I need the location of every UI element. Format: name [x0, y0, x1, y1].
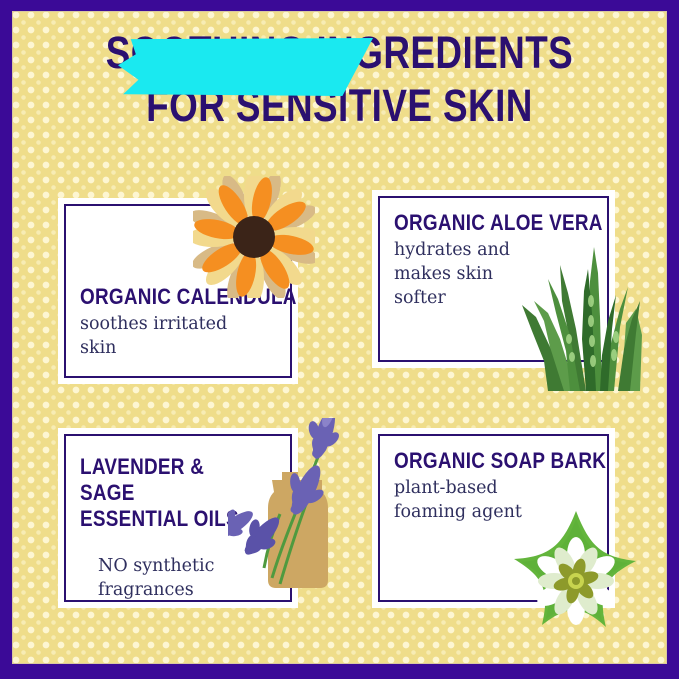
card-aloe-body: hydrates and makes skin softer	[394, 238, 599, 310]
card-soapbark-text: ORGANIC SOAP BARK plant-based foaming ag…	[394, 448, 599, 524]
card-lavender-text: LAVENDER & SAGE ESSENTIAL OILS NO synthe…	[80, 454, 282, 602]
card-calendula-body: soothes irritated skin	[80, 312, 282, 360]
card-calendula: ORGANIC CALENDULA soothes irritated skin	[58, 198, 298, 384]
card-calendula-title: ORGANIC CALENDULA	[80, 284, 254, 310]
card-aloe-vera: ORGANIC ALOE VERA hydrates and makes ski…	[372, 190, 615, 368]
card-lavender-title: LAVENDER & SAGE ESSENTIAL OILS	[80, 454, 254, 532]
ingredients-infographic-poster: SOOTHING INGREDIENTS FOR SENSITIVE SKIN …	[0, 0, 679, 679]
card-soapbark-title: ORGANIC SOAP BARK	[394, 448, 570, 474]
card-aloe-title: ORGANIC ALOE VERA	[394, 210, 570, 236]
card-lavender-sage: LAVENDER & SAGE ESSENTIAL OILS NO synthe…	[58, 428, 298, 608]
card-aloe-text: ORGANIC ALOE VERA hydrates and makes ski…	[394, 210, 599, 310]
card-lavender-body: NO synthetic fragrances	[98, 554, 282, 602]
cyan-highlight-brushstroke	[118, 38, 373, 96]
card-soapbark-body: plant-based foaming agent	[394, 476, 599, 524]
card-soap-bark: ORGANIC SOAP BARK plant-based foaming ag…	[372, 428, 615, 608]
card-calendula-text: ORGANIC CALENDULA soothes irritated skin	[80, 284, 282, 360]
